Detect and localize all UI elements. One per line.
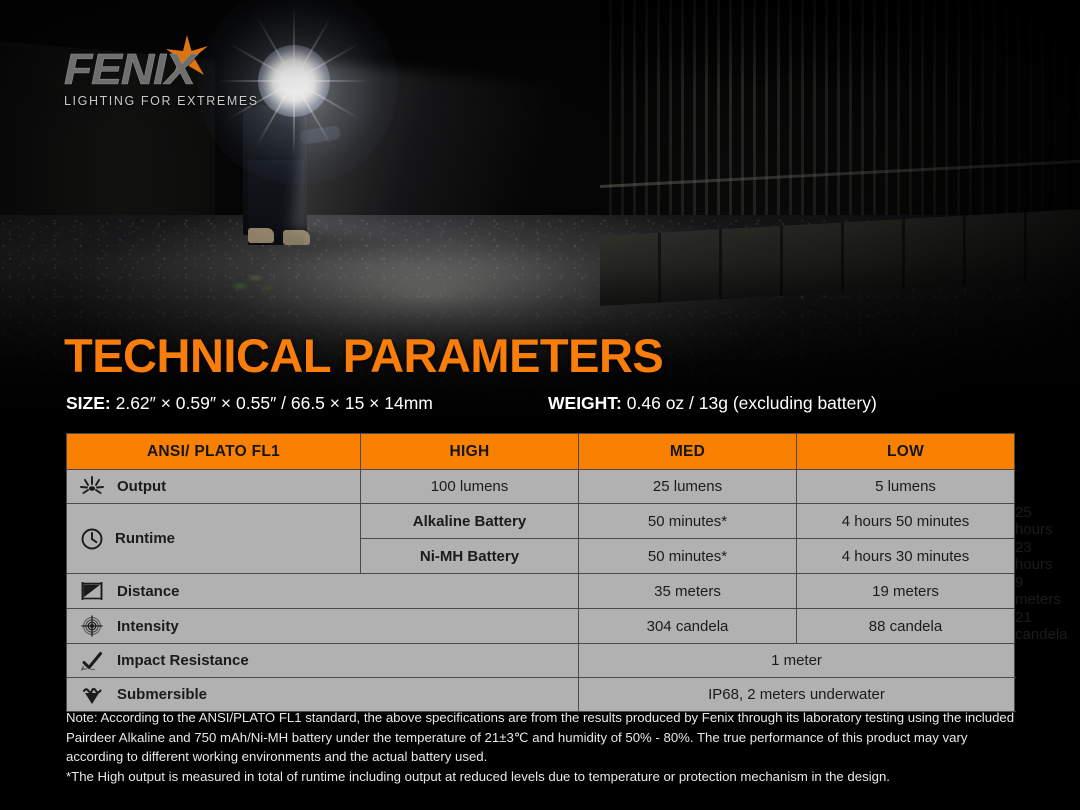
table-header: ANSI/ PLATO FL1 HIGH MED LOW — [67, 434, 1015, 470]
row-sublabel-alkaline: Alkaline Battery — [361, 504, 579, 539]
table-row: Distance 35 meters 19 meters 9 meters — [67, 574, 1015, 609]
cell-runtime-nimh-med: 4 hours 30 minutes — [797, 539, 1015, 574]
cell-submersible-value: IP68, 2 meters underwater — [579, 678, 1015, 712]
table-row: Submersible IP68, 2 meters underwater — [67, 678, 1015, 712]
cell-distance-med: 19 meters — [797, 574, 1015, 609]
cell-output-med: 25 lumens — [579, 470, 797, 504]
row-label-impact-resistance: Impact Resistance — [67, 644, 579, 678]
light-burst-icon — [77, 474, 107, 500]
beam-distance-icon — [77, 578, 107, 604]
column-header-ansi: ANSI/ PLATO FL1 — [67, 434, 361, 470]
row-label-text: Impact Resistance — [117, 652, 249, 669]
cell-intensity-med: 88 candela — [797, 609, 1015, 644]
column-header-med: MED — [579, 434, 797, 470]
spec-summary-line: SIZE: 2.62″ × 0.59″ × 0.55″ / 66.5 × 15 … — [66, 393, 1016, 417]
row-label-submersible: Submersible — [67, 678, 579, 712]
cell-impact-resistance-value: 1 meter — [579, 644, 1015, 678]
cell-runtime-alkaline-high: 50 minutes* — [579, 504, 797, 539]
table-header-row: ANSI/ PLATO FL1 HIGH MED LOW — [67, 434, 1015, 470]
footnote-high-output: *The High output is measured in total of… — [66, 767, 1016, 787]
size-spec: SIZE: 2.62″ × 0.59″ × 0.55″ / 66.5 × 15 … — [66, 393, 433, 414]
row-label-intensity: Intensity — [67, 609, 579, 644]
cell-runtime-alkaline-med: 4 hours 50 minutes — [797, 504, 1015, 539]
technical-parameters-table: ANSI/ PLATO FL1 HIGH MED LOW — [66, 433, 1015, 712]
size-label: SIZE: — [66, 393, 111, 413]
table-row: Runtime Alkaline Battery 50 minutes* 4 h… — [67, 504, 1015, 539]
clock-icon — [77, 526, 107, 552]
page-title: TECHNICAL PARAMETERS — [64, 328, 663, 384]
row-label-text: Output — [117, 478, 166, 495]
weight-label: WEIGHT: — [548, 393, 622, 413]
page-root: FENIX LIGHTING FOR EXTREMES TECHNICAL PA… — [0, 0, 1080, 810]
cell-output-low: 5 lumens — [797, 470, 1015, 504]
cell-runtime-nimh-high: 50 minutes* — [579, 539, 797, 574]
table-body: Output 100 lumens 25 lumens 5 lumens — [67, 470, 1015, 712]
logo-tagline: LIGHTING FOR EXTREMES — [64, 94, 304, 108]
weight-spec: WEIGHT: 0.46 oz / 13g (excluding battery… — [548, 393, 877, 414]
row-label-text: Submersible — [117, 686, 207, 703]
size-value: 2.62″ × 0.59″ × 0.55″ / 66.5 × 15 × 14mm — [116, 393, 433, 413]
table-row: Impact Resistance 1 meter — [67, 644, 1015, 678]
water-submersible-icon — [77, 682, 107, 708]
column-header-high: HIGH — [361, 434, 579, 470]
row-label-output: Output — [67, 470, 361, 504]
brand-logo: FENIX LIGHTING FOR EXTREMES — [64, 48, 304, 110]
row-label-text: Distance — [117, 583, 180, 600]
table-row: Output 100 lumens 25 lumens 5 lumens — [67, 470, 1015, 504]
cell-intensity-high: 304 candela — [579, 609, 797, 644]
row-label-text: Runtime — [115, 530, 175, 547]
target-intensity-icon — [77, 613, 107, 639]
column-header-low: LOW — [797, 434, 1015, 470]
impact-drop-icon — [77, 648, 107, 674]
row-label-runtime: Runtime — [67, 504, 361, 574]
row-sublabel-nimh: Ni-MH Battery — [361, 539, 579, 574]
row-label-text: Intensity — [117, 618, 179, 635]
weight-value: 0.46 oz / 13g (excluding battery) — [627, 393, 877, 413]
footnote-block: Note: According to the ANSI/PLATO FL1 st… — [66, 708, 1016, 786]
table-row: Intensity 304 candela 88 candela 21 cand… — [67, 609, 1015, 644]
footnote-standard: Note: According to the ANSI/PLATO FL1 st… — [66, 708, 1016, 767]
logo-wordmark: FENIX — [64, 48, 316, 92]
cell-output-high: 100 lumens — [361, 470, 579, 504]
row-label-distance: Distance — [67, 574, 579, 609]
cell-distance-high: 35 meters — [579, 574, 797, 609]
